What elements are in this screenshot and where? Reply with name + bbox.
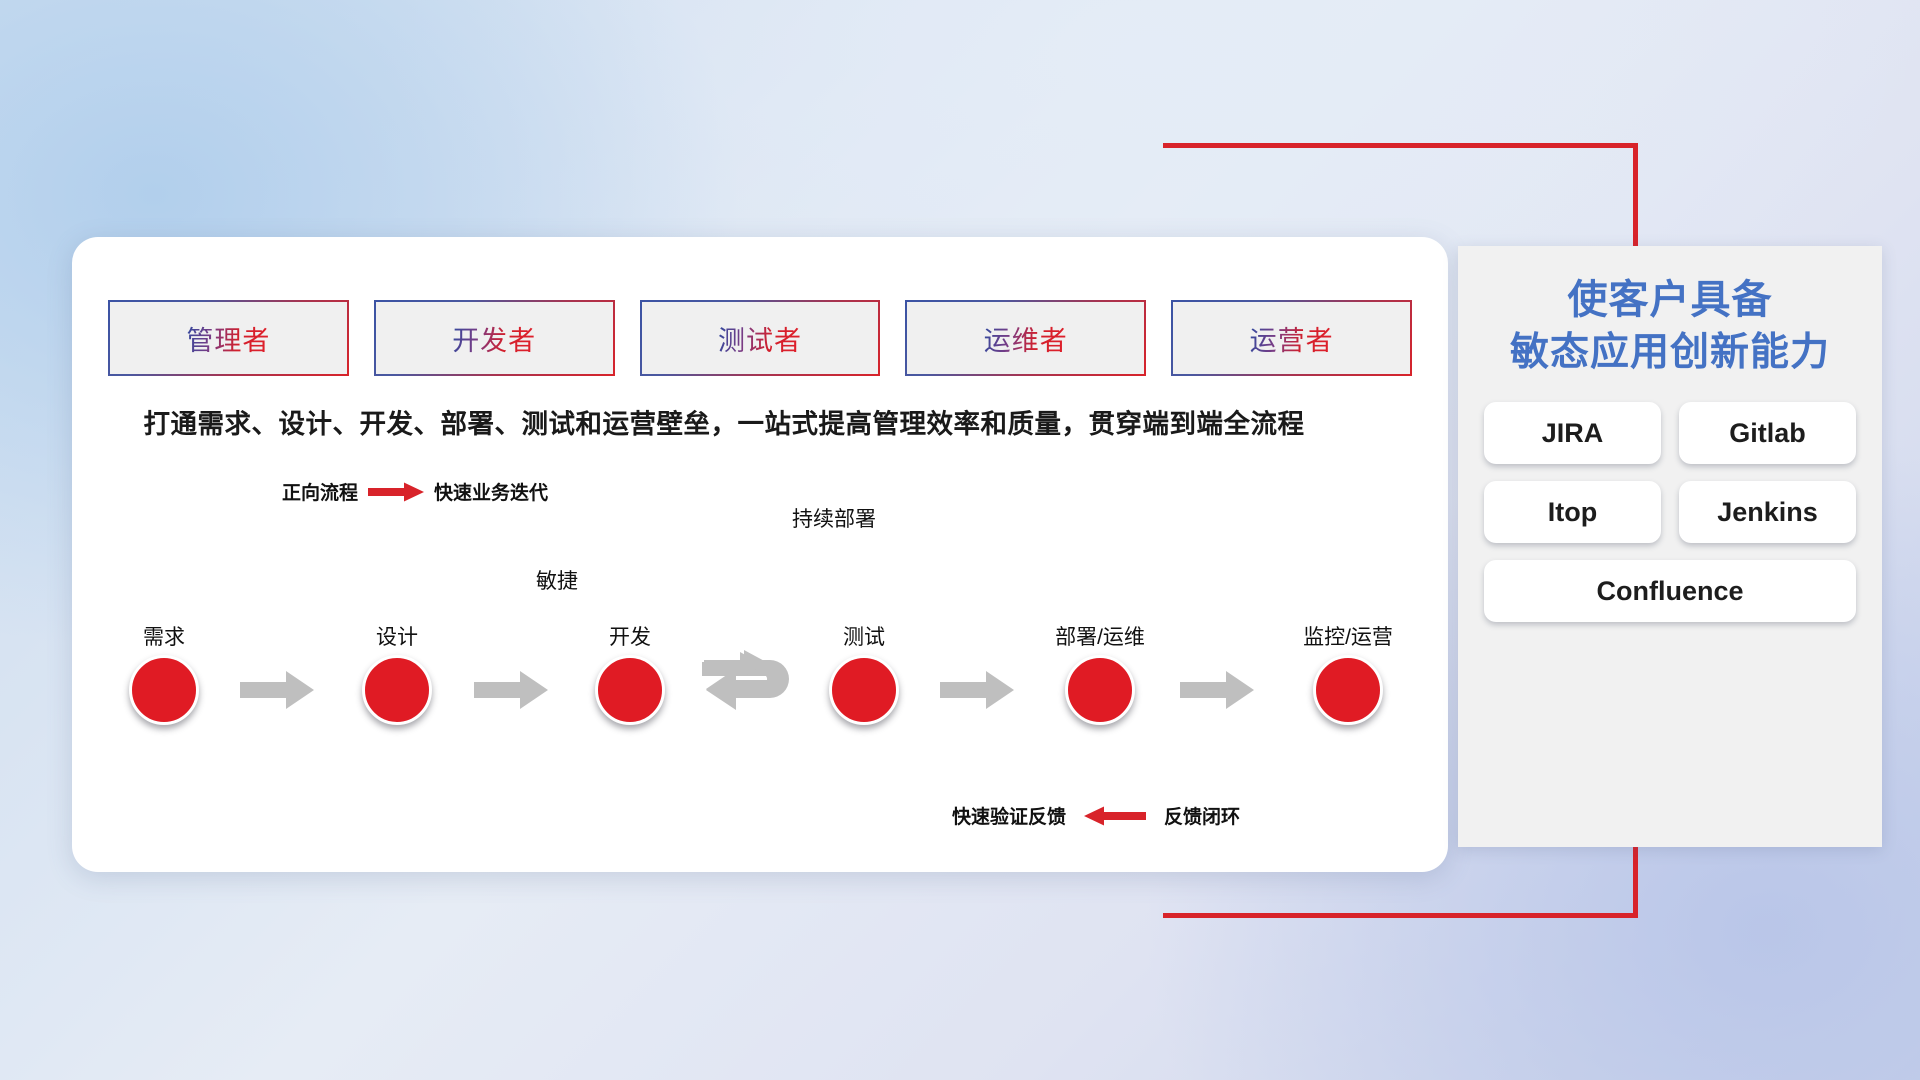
pipeline-node-dot [829, 655, 899, 725]
iteration-loop-icon [700, 650, 808, 722]
slide-canvas: 管理者 开发者 测试者 运维者 运营者 打通需求、设计、开发、部署、测试和运营壁… [0, 0, 1920, 1080]
pipeline-node-dot [1065, 655, 1135, 725]
pipeline-node-dot [129, 655, 199, 725]
right-panel-title-line2: 敏态应用创新能力 [1458, 327, 1882, 378]
pipeline-node-test[interactable]: 测试 [824, 655, 904, 725]
flow-arrow-icon [1180, 670, 1254, 710]
pipeline-node-dot [595, 655, 665, 725]
pipeline-node-label: 测试 [843, 621, 885, 651]
pipeline-row: 需求 设计 开发 测试 部署/运维 监控/运营 [0, 0, 1448, 872]
flow-arrow-icon [474, 670, 548, 710]
pipeline-node-dot [1313, 655, 1383, 725]
tool-button-jenkins[interactable]: Jenkins [1679, 481, 1856, 543]
tool-list: JIRA Gitlab Itop Jenkins Confluence [1458, 402, 1882, 622]
pipeline-node-design[interactable]: 设计 [357, 655, 437, 725]
pipeline-node-dot [362, 655, 432, 725]
tool-button-itop[interactable]: Itop [1484, 481, 1661, 543]
pipeline-node-label: 监控/运营 [1303, 621, 1393, 651]
pipeline-node-develop[interactable]: 开发 [590, 655, 670, 725]
right-panel: 使客户具备 敏态应用创新能力 JIRA Gitlab Itop Jenkins … [1458, 246, 1882, 847]
tool-button-confluence[interactable]: Confluence [1484, 560, 1856, 622]
pipeline-node-label: 设计 [376, 621, 418, 651]
pipeline-node-label: 需求 [143, 621, 185, 651]
flow-arrow-icon [240, 670, 314, 710]
pipeline-node-deploy-ops[interactable]: 部署/运维 [1060, 655, 1140, 725]
right-panel-title-line1: 使客户具备 [1458, 274, 1882, 327]
right-panel-title: 使客户具备 敏态应用创新能力 [1458, 246, 1882, 378]
pipeline-node-monitor-operate[interactable]: 监控/运营 [1308, 655, 1388, 725]
pipeline-node-label: 部署/运维 [1055, 621, 1145, 651]
pipeline-node-label: 开发 [609, 621, 651, 651]
tool-button-jira[interactable]: JIRA [1484, 402, 1661, 464]
flow-arrow-icon [940, 670, 1014, 710]
pipeline-node-requirement[interactable]: 需求 [124, 655, 204, 725]
tool-button-gitlab[interactable]: Gitlab [1679, 402, 1856, 464]
